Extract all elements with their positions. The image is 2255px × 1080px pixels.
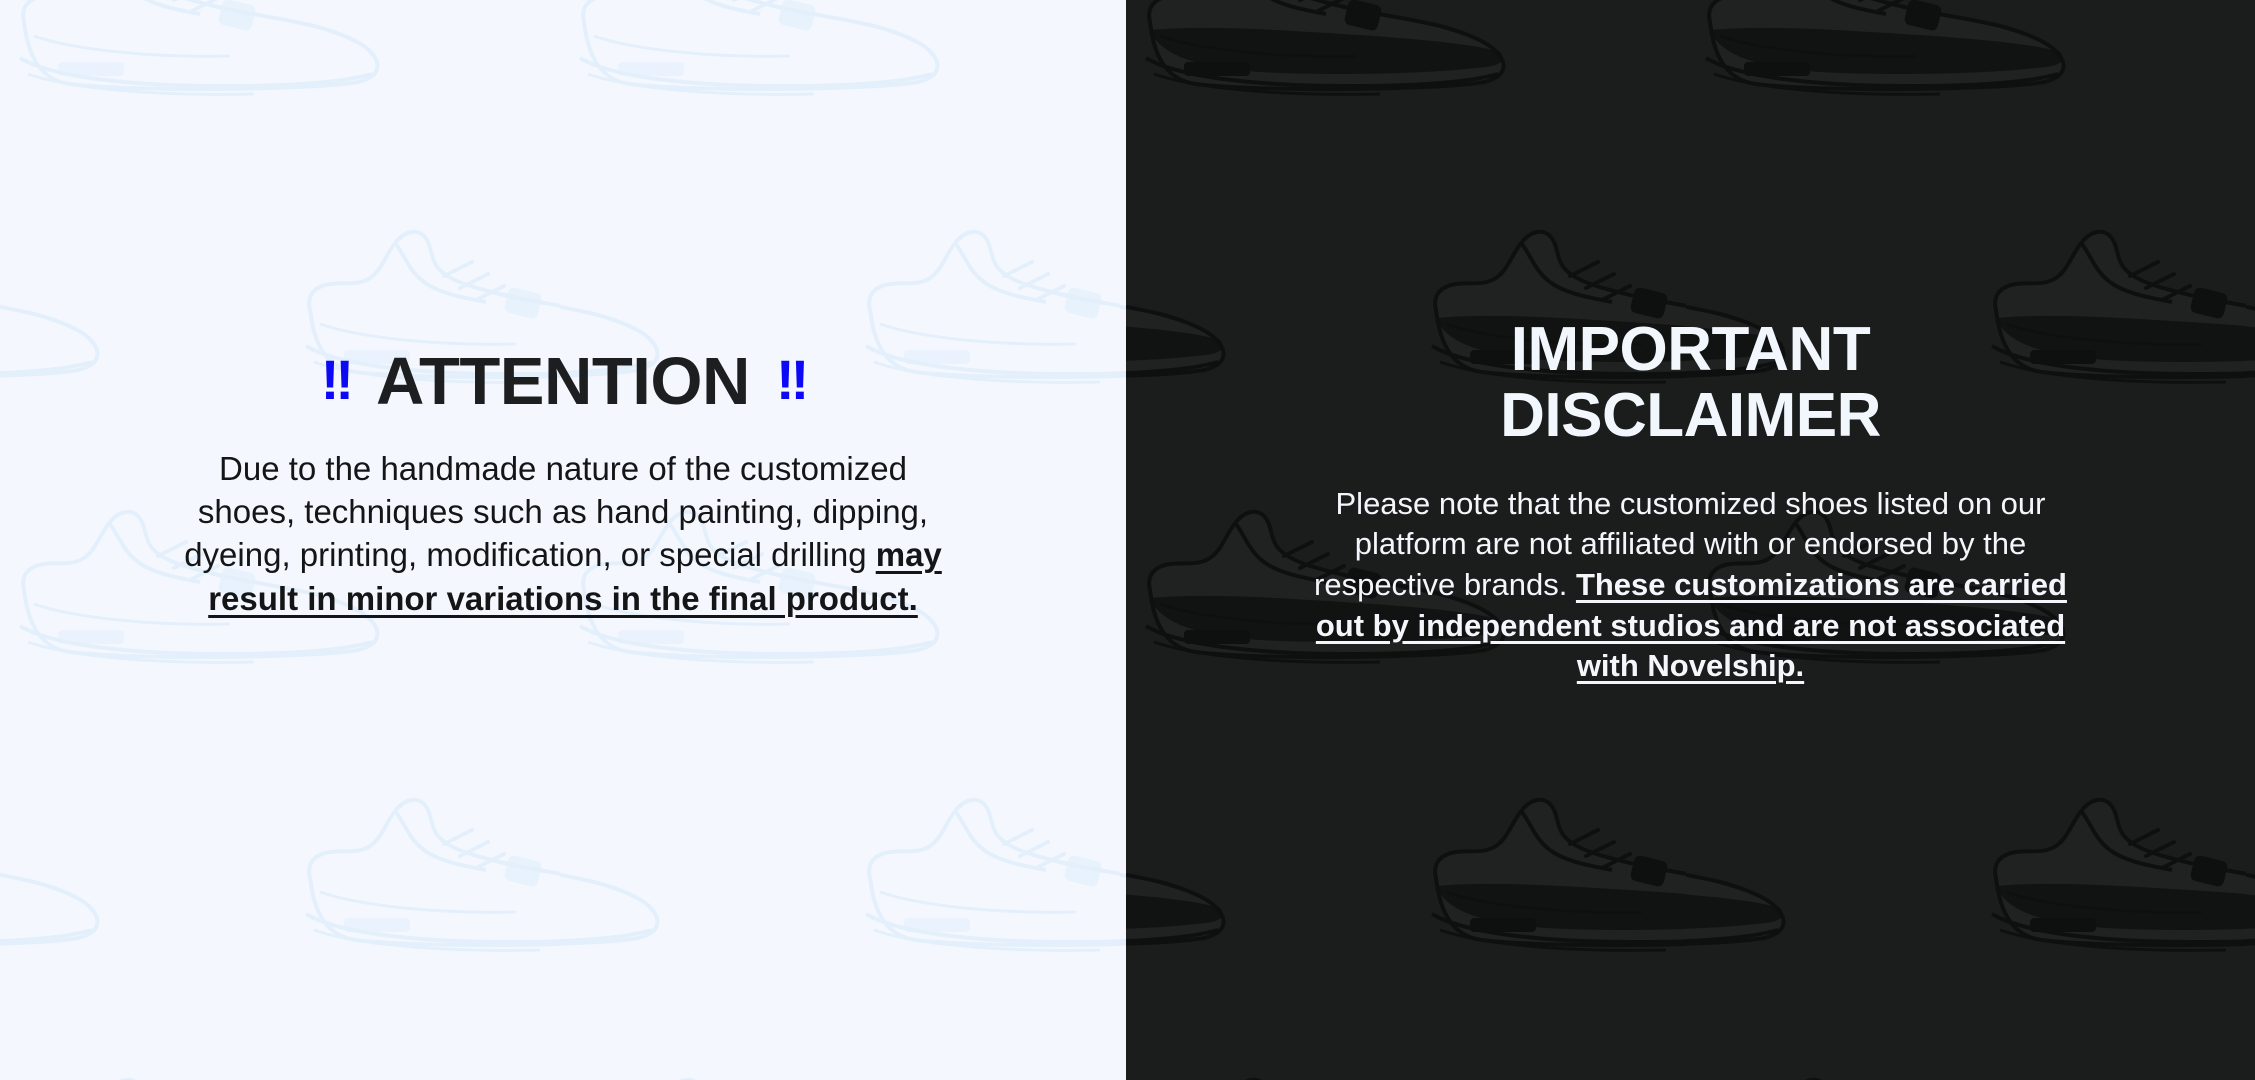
attention-panel: !! ATTENTION !! Due to the handmade natu… bbox=[0, 0, 1126, 1080]
attention-body: Due to the handmade nature of the custom… bbox=[168, 447, 958, 620]
disclaimer-heading-line-2: DISCLAIMER bbox=[1500, 384, 1881, 448]
disclaimer-banner: !! ATTENTION !! Due to the handmade natu… bbox=[0, 0, 2255, 1080]
attention-heading-word: ATTENTION bbox=[376, 348, 750, 415]
disclaimer-heading: IMPORTANT DISCLAIMER bbox=[1500, 318, 1881, 448]
disclaimer-body: Please note that the customized shoes li… bbox=[1291, 484, 2091, 687]
attention-body-lead: Due to the handmade nature of the custom… bbox=[184, 450, 928, 573]
disclaimer-heading-line-1: IMPORTANT bbox=[1511, 318, 1870, 382]
double-exclamation-icon-left: !! bbox=[321, 352, 350, 408]
attention-heading: !! ATTENTION !! bbox=[321, 348, 805, 415]
disclaimer-panel: IMPORTANT DISCLAIMER Please note that th… bbox=[1126, 0, 2255, 1080]
double-exclamation-icon-right: !! bbox=[776, 352, 805, 408]
